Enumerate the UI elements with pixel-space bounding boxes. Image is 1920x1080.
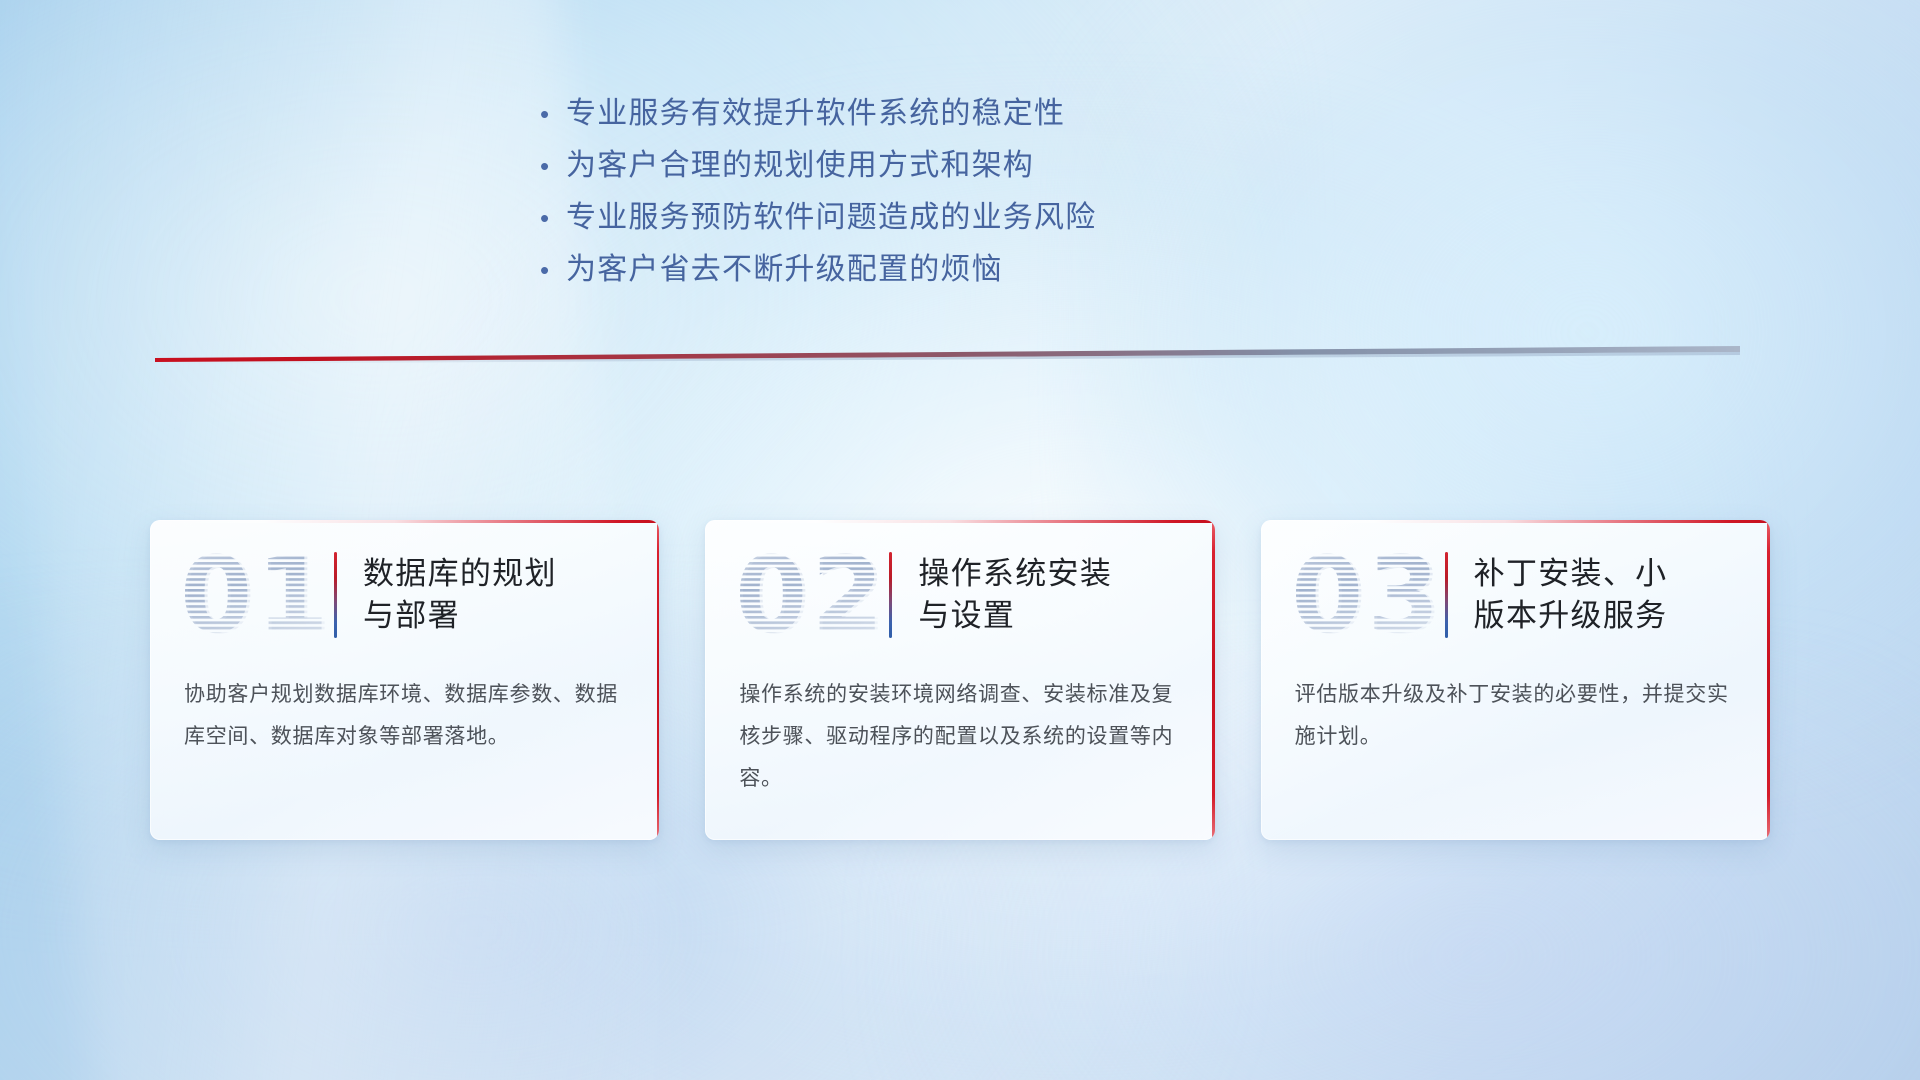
card-header: 01 01 数据库的规划 与部署 [150,520,659,670]
card-title: 数据库的规划 与部署 [363,553,557,637]
card-title: 补丁安装、小 版本升级服务 [1474,553,1668,637]
bullet-marker-icon: • [540,153,566,179]
bullet-marker-icon: • [540,257,566,283]
bullet-item-3-label: 专业服务预防软件问题造成的业务风险 [566,192,1096,236]
benefits-bullet-list: • 专业服务有效提升软件系统的稳定性 • 为客户合理的规划使用方式和架构 • 专… [540,88,1180,296]
service-card-01[interactable]: 01 01 数据库的规划 与部署 协助客户规划数据库环境、数据库参数、数据库空间… [150,520,659,840]
card-number-02-watermark: 02 02 [733,535,883,655]
card-accent-rule [889,552,892,638]
card-title-line-1: 补丁安装、小 [1474,553,1668,595]
bullet-item-1: • 专业服务有效提升软件系统的稳定性 [540,88,1180,140]
card-number-03-watermark: 03 03 [1289,535,1439,655]
bullet-item-1-label: 专业服务有效提升软件系统的稳定性 [566,88,1065,132]
svg-text:03: 03 [1294,535,1439,655]
bullet-item-4: • 为客户省去不断升级配置的烦恼 [540,244,1180,296]
card-description: 评估版本升级及补丁安装的必要性，并提交实施计划。 [1261,670,1770,758]
card-title-line-1: 操作系统安装 [918,553,1112,595]
svg-text:01: 01 [183,535,328,655]
card-description: 操作系统的安装环境网络调查、安装标准及复核步骤、驱动程序的配置以及系统的设置等内… [705,670,1214,800]
card-title: 操作系统安装 与设置 [918,553,1112,637]
bullet-marker-icon: • [540,101,566,127]
card-title-line-2: 与设置 [918,595,1112,637]
svg-text:02: 02 [738,535,883,655]
card-accent-rule [1445,552,1448,638]
section-divider [155,343,1740,369]
card-header: 02 02 操作系统安装 与设置 [705,520,1214,670]
card-title-line-2: 版本升级服务 [1474,595,1668,637]
card-accent-rule [334,552,337,638]
card-title-line-1: 数据库的规划 [363,553,557,595]
bullet-item-3: • 专业服务预防软件问题造成的业务风险 [540,192,1180,244]
service-card-02[interactable]: 02 02 操作系统安装 与设置 操作系统的安装环境网络调查、安装标准及复核步骤… [705,520,1214,840]
service-card-03[interactable]: 03 03 补丁安装、小 版本升级服务 评估版本升级及补丁安装的必要性，并提交实… [1261,520,1770,840]
card-description: 协助客户规划数据库环境、数据库参数、数据库空间、数据库对象等部署落地。 [150,670,659,758]
bullet-item-4-label: 为客户省去不断升级配置的烦恼 [566,244,1003,288]
bullet-marker-icon: • [540,205,566,231]
bullet-item-2: • 为客户合理的规划使用方式和架构 [540,140,1180,192]
card-title-line-2: 与部署 [363,595,557,637]
bullet-item-2-label: 为客户合理的规划使用方式和架构 [566,140,1034,184]
card-number-01-watermark: 01 01 [178,535,328,655]
service-card-list: 01 01 数据库的规划 与部署 协助客户规划数据库环境、数据库参数、数据库空间… [150,520,1770,840]
card-header: 03 03 补丁安装、小 版本升级服务 [1261,520,1770,670]
